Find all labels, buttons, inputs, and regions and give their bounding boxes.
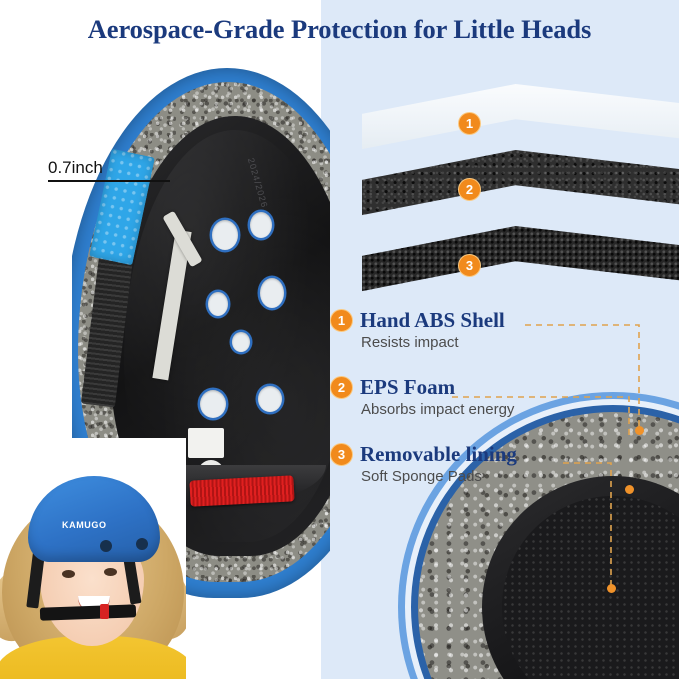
legend-item-2-head: 2 EPS Foam (330, 375, 610, 400)
legend-badge-3: 3 (330, 443, 353, 466)
underline-rule-icon (48, 180, 170, 182)
legend-item-2: 2 EPS Foam Absorbs impact energy (330, 375, 610, 418)
worn-helmet-vent (100, 540, 112, 552)
legend-item-2-subtitle: Absorbs impact energy (361, 401, 610, 418)
legend-item-1-head: 1 Hand ABS Shell (330, 308, 610, 333)
layer-3-lining: 3 (362, 226, 679, 314)
thickness-callout: 0.7inch (48, 158, 170, 182)
child-eye-left (62, 570, 75, 578)
exploded-layer-diagram: 1 2 3 (362, 78, 679, 308)
layer-3-badge-wrap: 3 (458, 254, 481, 277)
legend-item-3: 3 Removable lining Soft Sponge Pads (330, 442, 610, 485)
legend-item-2-title: EPS Foam (360, 375, 455, 400)
layer-2-eps-foam: 2 (362, 150, 679, 238)
vent-hole (212, 220, 238, 250)
legend-badge-1: 1 (330, 309, 353, 332)
legend-item-1-title: Hand ABS Shell (360, 308, 505, 333)
legend-list: 1 Hand ABS Shell Resists impact 2 EPS Fo… (330, 308, 610, 509)
legend-item-3-head: 3 Removable lining (330, 442, 610, 467)
layer-2-slab (362, 150, 679, 238)
layer-badge-1: 1 (458, 112, 481, 135)
vent-hole (260, 278, 284, 308)
worn-helmet-vent (136, 538, 148, 550)
thickness-label: 0.7inch (48, 158, 170, 178)
infographic-canvas: Aerospace-Grade Protection for Little He… (0, 0, 679, 679)
vent-hole (208, 292, 228, 316)
layer-2-badge-wrap: 2 (458, 178, 481, 201)
legend-item-3-title: Removable lining (360, 442, 517, 467)
leader-endpoint-3 (607, 584, 616, 593)
legend-item-3-subtitle: Soft Sponge Pads (361, 468, 610, 485)
child-wearing-helmet-photo: KAMUGO (0, 438, 186, 679)
vent-hole (232, 332, 250, 352)
strap-buckle (100, 604, 109, 619)
vent-hole (250, 212, 272, 238)
layer-badge-2: 2 (458, 178, 481, 201)
helmet-size-sticker (188, 428, 224, 458)
vent-hole (200, 390, 226, 418)
layer-3-slab (362, 226, 679, 314)
rear-reflector (189, 475, 294, 506)
leader-endpoint-2 (625, 485, 634, 494)
layer-1-badge-wrap: 1 (458, 112, 481, 135)
legend-item-1-subtitle: Resists impact (361, 334, 610, 351)
brand-logo: KAMUGO (62, 520, 107, 530)
layer-badge-3: 3 (458, 254, 481, 277)
legend-item-1: 1 Hand ABS Shell Resists impact (330, 308, 610, 351)
vent-hole (258, 386, 282, 412)
child-eye-right (104, 568, 117, 576)
leader-endpoint-1 (635, 426, 644, 435)
legend-badge-2: 2 (330, 376, 353, 399)
page-title: Aerospace-Grade Protection for Little He… (0, 14, 679, 45)
